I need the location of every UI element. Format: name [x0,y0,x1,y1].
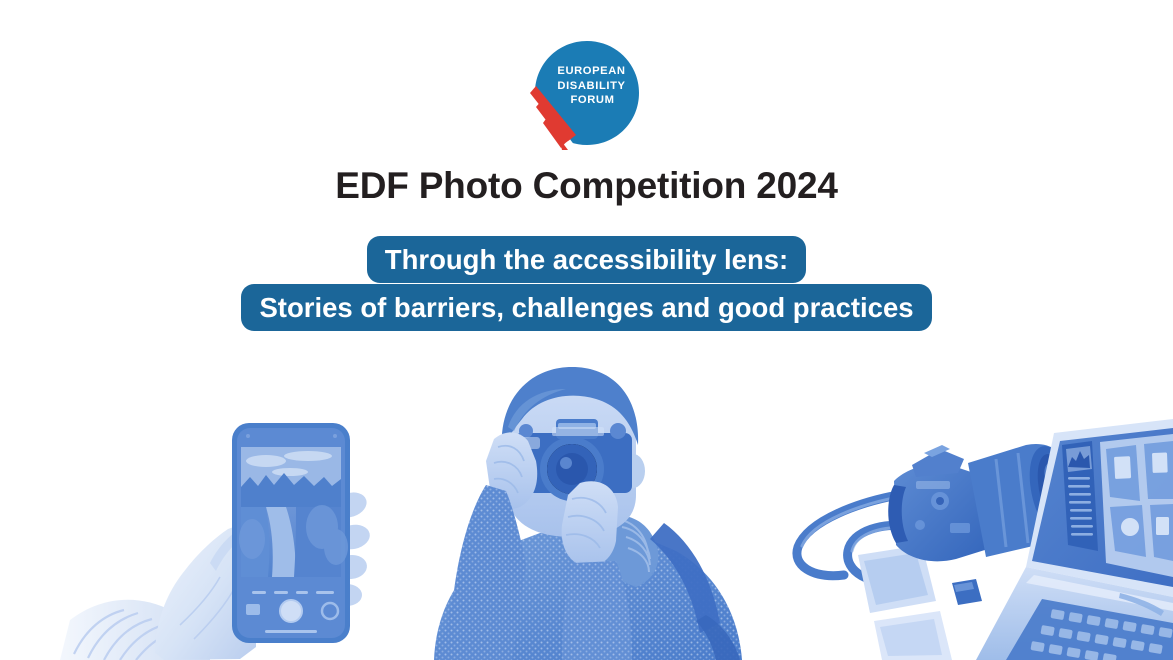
printed-photos [858,545,952,660]
logo-area: EUROPEAN DISABILITY FORUM [0,38,1173,153]
poster-canvas: EUROPEAN DISABILITY FORUM EDF Photo Comp… [0,0,1173,660]
laptop-photo-grid [1100,434,1173,577]
subtitle-line-2-row: Stories of barriers, challenges and good… [0,286,1173,334]
page-title: EDF Photo Competition 2024 [0,165,1173,207]
subtitle-line-2: Stories of barriers, challenges and good… [241,284,931,331]
subtitle-line-1-row: Through the accessibility lens: [0,238,1173,286]
photo-strip [0,360,1173,660]
european-disability-forum-logo: EUROPEAN DISABILITY FORUM [528,38,646,153]
subtitle-banner: Through the accessibility lens: Stories … [0,238,1173,334]
smartphone [232,423,350,643]
memory-card [952,579,982,605]
photo-dslr-camera-and-laptop [790,415,1173,660]
photo-photographer-with-film-camera [420,365,770,660]
laptop-tool-panel [1062,441,1098,551]
subtitle-line-1: Through the accessibility lens: [367,236,806,283]
photo-hand-holding-smartphone [60,415,400,660]
